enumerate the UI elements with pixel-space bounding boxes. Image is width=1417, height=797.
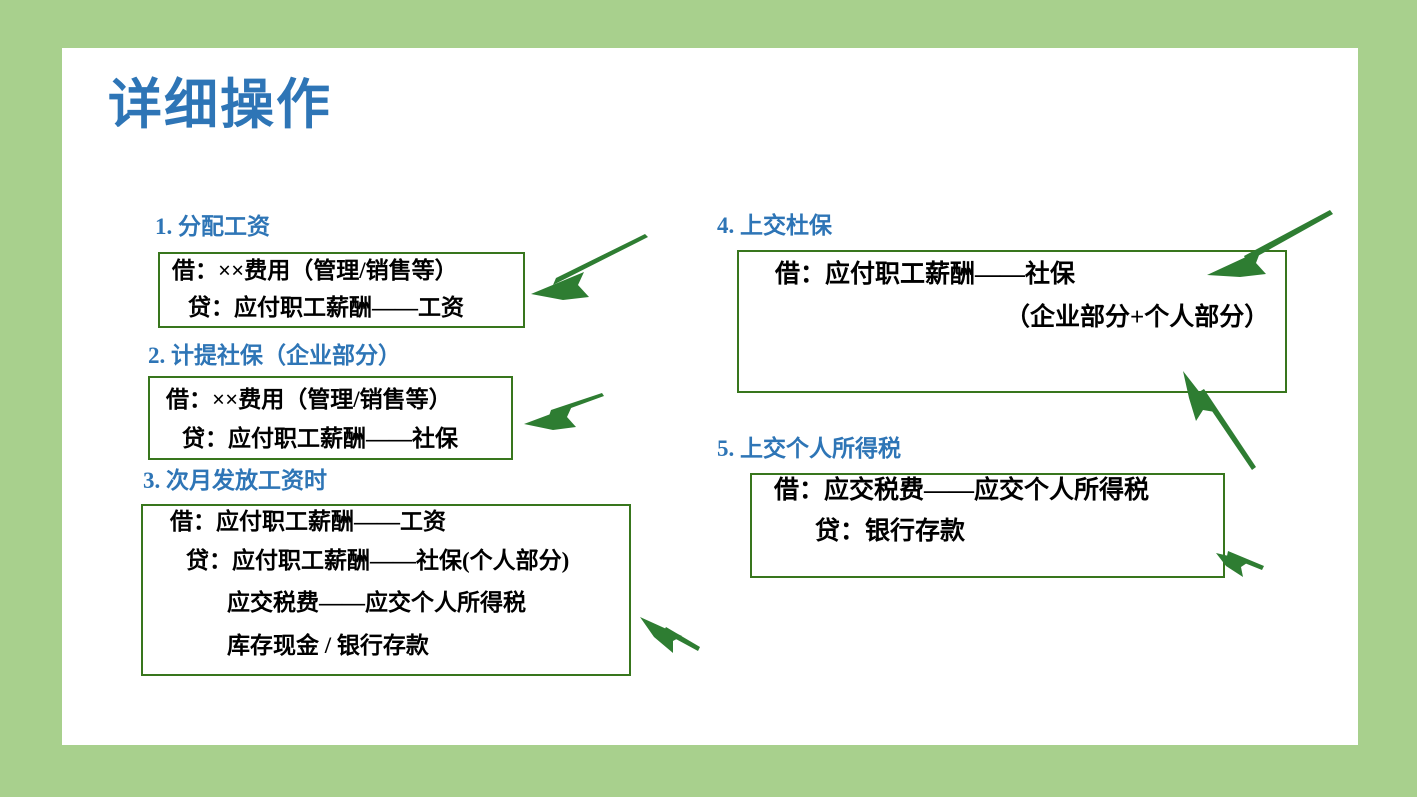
entry-line-3-3: 库存现金 / 银行存款 xyxy=(227,634,429,657)
entry-line-3-0: 借：应付职工薪酬——工资 xyxy=(170,510,446,533)
step-heading-2: 2. 计提社保（企业部分） xyxy=(148,343,401,368)
step-heading-3: 3. 次月发放工资时 xyxy=(143,468,327,493)
entry-line-2-1: 贷：应付职工薪酬——社保 xyxy=(182,427,458,450)
entry-line-3-1: 贷：应付职工薪酬——社保(个人部分) xyxy=(186,549,569,572)
entry-line-4-0: 借：应付职工薪酬——社保 xyxy=(775,262,1075,287)
entry-line-4-1: （企业部分+个人部分） xyxy=(1005,305,1269,330)
entry-line-1-1: 贷：应付职工薪酬——工资 xyxy=(188,296,464,319)
entry-line-1-0: 借：××费用（管理/销售等） xyxy=(172,259,458,282)
entry-line-5-0: 借：应交税费——应交个人所得税 xyxy=(774,478,1149,503)
step-heading-5: 5. 上交个人所得税 xyxy=(717,436,901,461)
page-title: 详细操作 xyxy=(108,78,332,132)
entry-line-3-2: 应交税费——应交个人所得税 xyxy=(227,591,526,614)
entry-line-5-1: 贷：银行存款 xyxy=(815,519,965,544)
step-heading-4: 4. 上交杜保 xyxy=(717,213,832,238)
step-heading-1: 1. 分配工资 xyxy=(155,214,270,239)
slide-root: 详细操作 1. 分配工资 借：××费用（管理/销售等） 贷：应付职工薪酬——工资… xyxy=(0,0,1417,797)
entry-line-2-0: 借：××费用（管理/销售等） xyxy=(166,388,452,411)
